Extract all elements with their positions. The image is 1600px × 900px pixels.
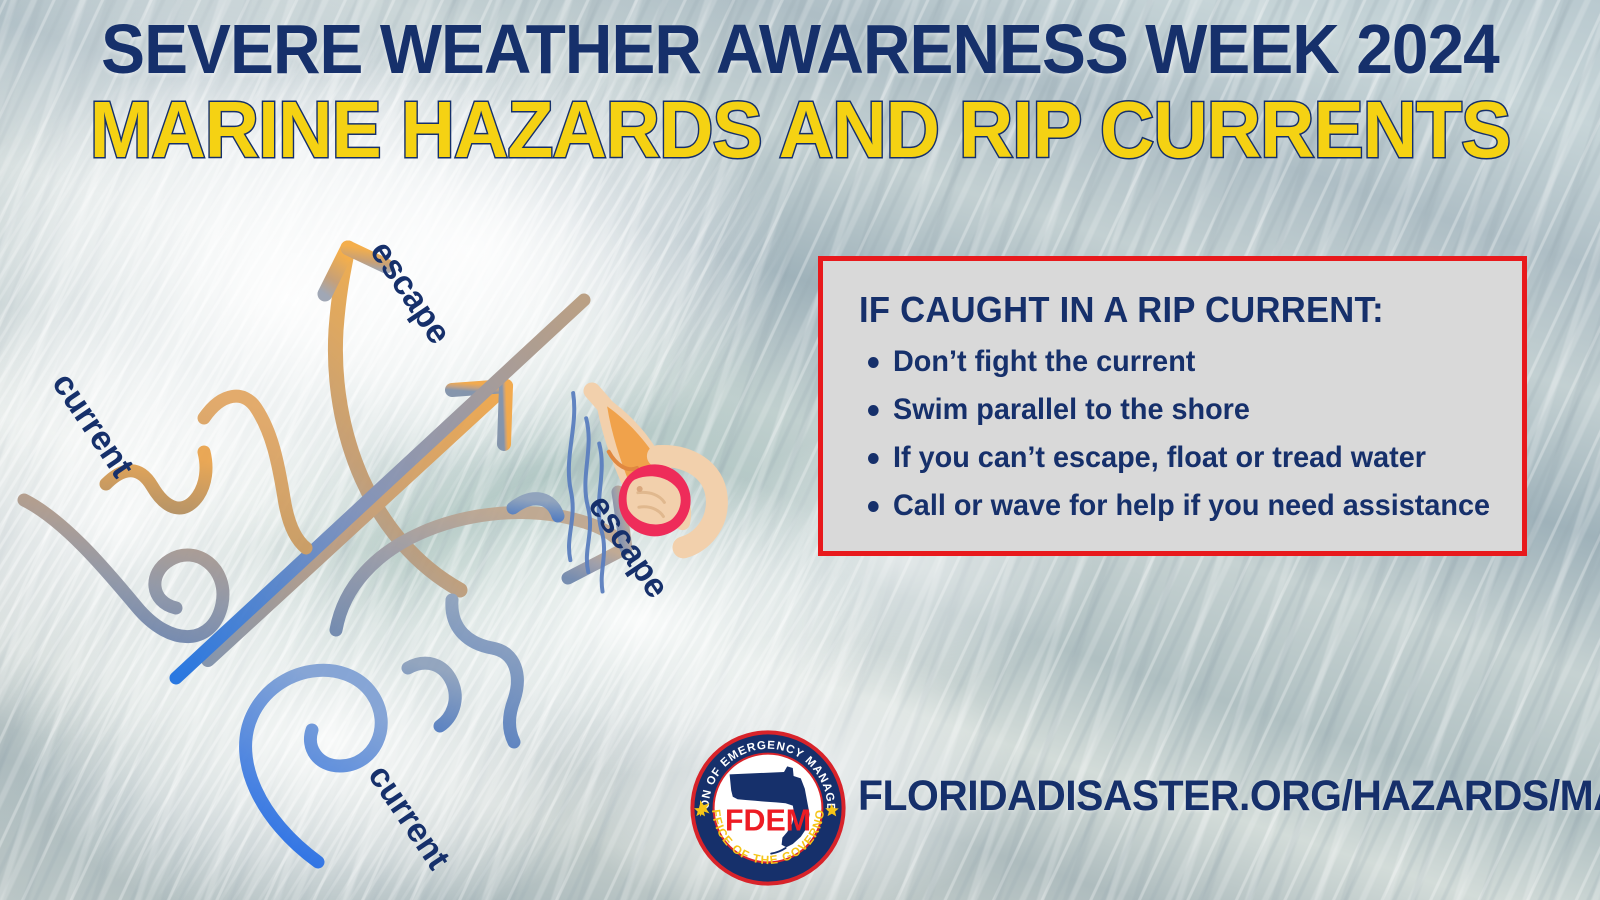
list-item-label: Call or wave for help if you need assist… (893, 489, 1490, 522)
current-line-long (176, 300, 584, 678)
logo-acronym: FDEM (725, 803, 811, 837)
title-line-1: SEVERE WEATHER AWARENESS WEEK 2024 (48, 14, 1552, 84)
footer-url: FLORIDADISASTER.ORG/HAZARDS/MARINE (858, 772, 1600, 821)
bullet-icon (868, 405, 879, 416)
title-line-2: MARINE HAZARDS AND RIP CURRENTS (48, 90, 1552, 170)
info-box-bullet-list: Don’t fight the current Swim parallel to… (823, 345, 1522, 523)
bullet-icon (868, 357, 879, 368)
bullet-icon (868, 453, 879, 464)
list-item-label: Don’t fight the current (893, 345, 1195, 378)
info-box-heading: IF CAUGHT IN A RIP CURRENT: (859, 289, 1495, 331)
list-item: If you can’t escape, float or tread wate… (893, 441, 1497, 475)
current-squiggle-5 (408, 663, 455, 726)
poster-canvas: SEVERE WEATHER AWARENESS WEEK 2024 MARIN… (0, 0, 1600, 900)
list-item: Call or wave for help if you need assist… (893, 489, 1497, 523)
bullet-icon (868, 501, 879, 512)
poster-title-block: SEVERE WEATHER AWARENESS WEEK 2024 MARIN… (0, 14, 1600, 170)
list-item: Don’t fight the current (893, 345, 1497, 379)
list-item: Swim parallel to the shore (893, 393, 1497, 427)
fdem-logo: DIVISION OF EMERGENCY MANAGEMENT OFFICE … (688, 728, 848, 888)
rip-current-info-box: IF CAUGHT IN A RIP CURRENT: Don’t fight … (818, 256, 1527, 556)
list-item-label: Swim parallel to the shore (893, 393, 1250, 426)
current-squiggle-2 (204, 396, 306, 548)
wave-curl-upper (24, 500, 223, 637)
wave-curl-lower (246, 670, 382, 862)
list-item-label: If you can’t escape, float or tread wate… (893, 441, 1426, 474)
current-squiggle-4 (452, 600, 517, 742)
